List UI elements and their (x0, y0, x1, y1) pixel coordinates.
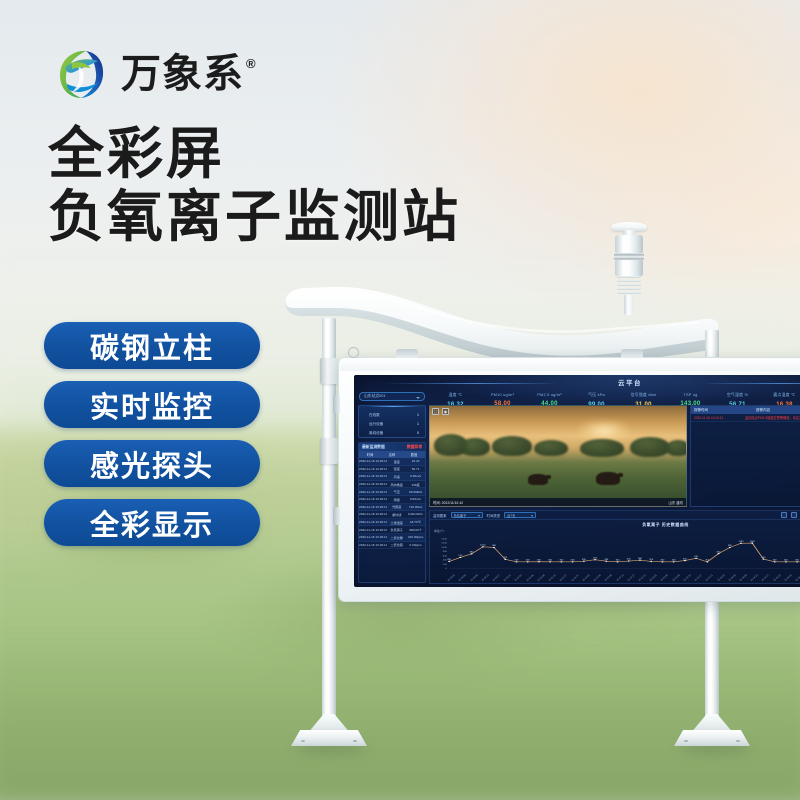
chart-x-tick-label: 11-11 13 (549, 575, 557, 582)
chart-x-tick-label: 11-14 01 (717, 575, 725, 582)
latest-data-table: 最新监测数据 数据异常 时间 名称 数值 2022-11-16 13:26:10… (358, 442, 426, 583)
cell-name: 负氧离子 (387, 527, 406, 532)
chart-x-tick-label: 11-14 13 (751, 575, 759, 582)
svg-text:380: 380 (638, 558, 643, 560)
column-header-time: 时间 (359, 452, 381, 457)
svg-text:980: 980 (492, 545, 497, 547)
svg-text:330: 330 (604, 559, 609, 561)
post-base-right (674, 716, 750, 746)
cell-time: 2022-11-16 13:26:10 (359, 512, 387, 516)
alarm-message: 监测站点PM2.5值超过预警阈值，请注意 (745, 415, 800, 420)
camera-animal-cow (528, 474, 548, 485)
chart-x-tick-label: 11-14 05 (728, 575, 736, 582)
svg-text:0: 0 (446, 568, 448, 570)
chart-x-tick-label: 11-12 01 (582, 575, 590, 582)
column-header-name: 名称 (381, 452, 403, 457)
table-row: 2022-11-16 13:26:10温度16.32 (359, 458, 425, 466)
device-status-card: 在线数 1 运行设备 1 离线设备 0 (358, 405, 426, 438)
metric-label: 温度 ℃ (432, 392, 479, 398)
alarm-column-time: 报警时间 (694, 408, 708, 413)
chart-x-tick-label: 11-13 01 (650, 575, 658, 582)
chart-x-tick-label: 11-15 01 (785, 575, 793, 582)
chart-x-tick-label: 11-13 21 (706, 575, 714, 582)
chart-x-tick-label: 11-12 21 (639, 575, 647, 582)
monitoring-station-product: 云平台 欢迎您 admin 2022年11月16日 13:26:40 山东站点0… (0, 0, 800, 800)
status-value: 1 (417, 413, 419, 418)
chevron-down-icon (478, 515, 480, 517)
status-value: 0 (417, 431, 419, 436)
cell-time: 2022-11-16 13:26:10 (359, 490, 387, 494)
cell-name: 温度 (387, 459, 406, 464)
history-chart-panel: 监测要素 负氧离子 时间类型 近7天 (429, 510, 800, 584)
alarm-panel: 报警时间 报警内容 2022-11-16 10:12:11 监测站点PM2.5值… (690, 405, 800, 507)
cell-name: 二氧化碳 (387, 535, 406, 540)
chart-x-tick-label: 11-10 09 (470, 575, 478, 582)
chart-x-tick-label: 11-11 21 (571, 575, 579, 582)
station-select-value: 山东站点001 (364, 394, 386, 399)
cell-value: 99.00kPa (406, 490, 425, 494)
svg-text:470: 470 (694, 556, 699, 558)
svg-text:300: 300 (571, 560, 576, 562)
mount-ring-left (348, 347, 359, 358)
svg-text:1180: 1180 (738, 541, 744, 543)
metric-label: TSP ug (667, 392, 714, 397)
svg-text:400: 400 (593, 558, 598, 560)
chart-x-tick-label: 11-13 13 (684, 575, 692, 582)
svg-text:300: 300 (660, 560, 665, 562)
cell-value: 18.70℃ (406, 520, 425, 524)
svg-text:600: 600 (443, 556, 448, 558)
table-alert-label: 数据异常 (407, 445, 422, 450)
svg-text:320: 320 (649, 559, 654, 561)
status-row-offline: 离线设备 0 (369, 431, 419, 436)
svg-text:1190: 1190 (750, 541, 756, 543)
cell-value: 0.00mm (406, 497, 425, 501)
cell-value: 16.32 (406, 459, 425, 463)
camera-tree (666, 440, 687, 456)
column-header-value: 数值 (403, 452, 425, 457)
chart-period-value: 近7天 (507, 513, 515, 518)
cell-name: 风向角度 (387, 482, 406, 487)
cell-name: 土壤温度 (387, 520, 406, 525)
station-select-dropdown[interactable]: 山东站点001 (359, 392, 425, 401)
monitor-top-lip (340, 359, 800, 371)
chart-x-tick-label: 11-10 13 (481, 575, 489, 582)
chart-x-tick-label: 11-15 05 (796, 575, 800, 582)
alarm-time: 2022-11-16 10:12:11 (694, 416, 723, 420)
chart-element-select[interactable]: 负氧离子 (451, 512, 483, 518)
table-title: 最新监测数据 (362, 445, 385, 450)
chart-x-tick-label: 11-10 21 (504, 575, 512, 582)
chart-toolbar: 监测要素 负氧离子 时间类型 近7天 (430, 511, 800, 520)
table-body: 2022-11-16 13:26:10温度16.322022-11-16 13:… (359, 458, 425, 582)
chart-x-tick-label: 11-12 17 (627, 575, 635, 582)
chart-x-tick-label: 11-11 05 (526, 575, 534, 582)
cell-name: 雨量 (387, 497, 406, 502)
svg-text:300: 300 (672, 560, 677, 562)
chart-x-tick-label: 11-10 01 (448, 575, 456, 582)
cell-time: 2022-11-16 13:26:10 (359, 497, 387, 501)
metric-label: PM2.5 ug/m³ (526, 392, 573, 397)
cell-time: 2022-11-16 13:26:10 (359, 474, 387, 478)
sensor-lower-body (615, 260, 643, 276)
status-value: 1 (417, 422, 419, 427)
side-latch-upper (333, 395, 340, 413)
svg-text:340: 340 (627, 559, 632, 561)
camera-tree (630, 437, 670, 457)
chart-filter-label-period: 时间类型 (487, 513, 501, 518)
camera-tree (492, 436, 532, 456)
chart-x-tick-label: 11-14 21 (773, 575, 781, 582)
status-label: 离线设备 (369, 431, 383, 436)
table-row: 2022-11-16 13:26:10气压99.00kPa (359, 488, 425, 496)
cell-name: 气压 (387, 489, 406, 494)
svg-text:300: 300 (795, 560, 800, 562)
screen-left-column: 在线数 1 运行设备 1 离线设备 0 (358, 405, 426, 583)
cell-time: 2022-11-16 13:26:10 (359, 482, 387, 486)
svg-text:1010: 1010 (480, 545, 486, 547)
svg-text:1000: 1000 (441, 547, 448, 549)
metric-label: PM10 ug/m³ (479, 392, 526, 397)
sensor-mount-stem (624, 295, 634, 315)
cell-value: 0.00ppm (406, 543, 425, 547)
cell-time: 2022-11-16 13:26:10 (359, 467, 387, 471)
table-row: 2022-11-16 13:26:10二氧化硫0.00ppm (359, 542, 425, 550)
svg-text:300: 300 (773, 560, 778, 562)
monitor-housing: 云平台 欢迎您 admin 2022年11月16日 13:26:40 山东站点0… (338, 357, 800, 602)
screen-title: 云平台 (618, 377, 642, 387)
camera-info-bar: 时间: 2022/11/16 42 山东 潍坊 (430, 498, 686, 506)
table-column-headers: 时间 名称 数值 (359, 451, 425, 458)
table-row: 2022-11-16 13:26:10雨量0.00mm (359, 496, 425, 504)
cell-time: 2022-11-16 13:26:10 (359, 535, 387, 539)
chevron-down-icon (416, 397, 420, 399)
metric-label: 信号强度 dbm (620, 392, 667, 398)
camera-tree (580, 439, 624, 457)
chart-x-tick-label: 11-14 09 (740, 575, 748, 582)
table-row: 2022-11-16 13:26:10湿度56.71 (359, 466, 425, 474)
metric-label: 气压 kPa (573, 392, 620, 398)
header-line-left (384, 383, 554, 384)
chart-x-tick-label: 11-12 09 (605, 575, 613, 582)
svg-text:800: 800 (443, 551, 448, 553)
chevron-down-icon (531, 515, 533, 517)
svg-text:1200: 1200 (441, 543, 448, 545)
chart-x-tick-label: 11-13 09 (672, 575, 680, 582)
cell-name: 风速 (387, 474, 406, 479)
chart-title: 负氧离子 历史数据曲线 (642, 522, 689, 528)
mount-tab-1 (396, 349, 418, 358)
cell-value: 0.00mW/m (406, 512, 425, 516)
chart-type-line-icon[interactable] (781, 512, 787, 518)
chart-x-tick-label: 11-12 13 (616, 575, 624, 582)
snapshot-icon[interactable]: ◉ (442, 408, 449, 415)
cell-time: 2022-11-16 13:26:10 (359, 543, 387, 547)
svg-text:1400: 1400 (441, 539, 448, 541)
chart-filter-label-element: 监测要素 (433, 513, 447, 518)
chart-x-tick-label: 11-11 01 (515, 575, 523, 582)
cell-name: 紫外线 (387, 512, 406, 517)
table-row: 2022-11-16 13:26:10光照度716.00lux (359, 504, 425, 512)
cell-value: 980.00个 (406, 527, 425, 532)
chart-svg: 0200400600800100012001400320510680101098… (433, 533, 800, 571)
svg-text:200: 200 (443, 564, 448, 566)
status-row-online: 在线数 1 (369, 413, 419, 418)
cell-time: 2022-11-16 13:26:10 (359, 459, 387, 463)
chart-x-tick-label: 11-11 09 (538, 575, 546, 582)
chart-x-tick-label: 11-14 17 (762, 575, 770, 582)
cell-name: 湿度 (387, 466, 406, 471)
chart-x-tick-label: 11-11 17 (560, 575, 568, 582)
screen-header: 云平台 欢迎您 admin 2022年11月16日 13:26:40 (354, 375, 800, 390)
cell-value: 0.30m/s (406, 474, 425, 478)
cell-time: 2022-11-16 13:26:10 (359, 505, 387, 509)
table-row: 2022-11-16 13:26:10紫外线0.00mW/m (359, 511, 425, 519)
svg-text:330: 330 (582, 559, 587, 561)
header-line-right (706, 383, 800, 384)
cell-value: 138度 (406, 482, 425, 487)
cell-time: 2022-11-16 13:26:10 (359, 520, 387, 524)
status-row-running: 运行设备 1 (369, 422, 419, 427)
chart-x-tick-label: 11-10 17 (493, 575, 501, 582)
product-banner: 万象系 ® 全彩屏 负氧离子监测站 碳钢立柱 实时监控 感光探头 全彩显示 (0, 0, 800, 800)
svg-text:300: 300 (515, 560, 520, 562)
cell-value: 410.00ppm (406, 535, 425, 539)
chart-x-tick-label: 11-13 17 (695, 575, 703, 582)
table-row: 2022-11-16 13:26:10二氧化碳410.00ppm (359, 534, 425, 542)
svg-text:300: 300 (526, 560, 531, 562)
chart-period-select[interactable]: 近7天 (504, 512, 536, 518)
sensor-upper-body (615, 235, 643, 253)
camera-animal-cow (596, 472, 620, 485)
status-label: 在线数 (369, 413, 380, 418)
fullscreen-icon[interactable]: ⛶ (432, 408, 439, 415)
status-label: 运行设备 (369, 422, 383, 427)
cell-time: 2022-11-16 13:26:10 (359, 528, 387, 532)
table-row: 2022-11-16 13:26:10风速0.30m/s (359, 473, 425, 481)
post-base-left (291, 716, 367, 746)
cell-name: 二氧化硫 (387, 542, 406, 547)
camera-timestamp: 时间: 2022/11/16 42 (433, 500, 463, 505)
chart-x-tick-label: 11-10 05 (459, 575, 467, 582)
chart-x-tick-label: 11-13 05 (661, 575, 669, 582)
chart-x-tick-label: 11-12 05 (594, 575, 602, 582)
svg-text:420: 420 (503, 557, 508, 559)
sensor-radiation-shield (617, 276, 641, 296)
mount-tab-2 (621, 349, 643, 358)
metric-label: 露点温度 ℃ (761, 392, 800, 398)
table-row: 2022-11-16 13:26:10土壤温度18.70℃ (359, 519, 425, 527)
chart-x-axis-labels: 11-10 0111-10 0511-10 0911-10 1311-10 17… (433, 571, 800, 583)
alarm-row: 2022-11-16 10:12:11 监测站点PM2.5值超过预警阈值，请注意 (691, 414, 800, 422)
table-row: 2022-11-16 13:26:10风向角度138度 (359, 481, 425, 489)
svg-text:305: 305 (537, 560, 542, 562)
ultrasonic-weather-sensor (602, 222, 656, 314)
metric-label: 空气湿度 % (714, 392, 761, 398)
cell-value: 56.71 (406, 467, 425, 471)
dashboard-screen: 云平台 欢迎您 admin 2022年11月16日 13:26:40 山东站点0… (354, 375, 800, 587)
camera-tree (534, 440, 568, 456)
chart-plot-area: 0200400600800100012001400320510680101098… (433, 533, 800, 571)
cell-value: 716.00lux (406, 505, 425, 509)
cell-name: 光照度 (387, 504, 406, 509)
alarm-header: 报警时间 报警内容 (691, 406, 800, 414)
camera-toolbar: ⛶ ◉ (432, 408, 449, 415)
svg-text:430: 430 (761, 557, 766, 559)
chart-type-bar-icon[interactable] (791, 512, 797, 518)
chart-element-value: 负氧离子 (454, 513, 467, 518)
side-latch-lower (333, 507, 340, 525)
svg-text:300: 300 (559, 560, 564, 562)
camera-location: 山东 潍坊 (668, 500, 683, 505)
svg-text:300: 300 (616, 560, 621, 562)
svg-text:300: 300 (548, 560, 553, 562)
table-row: 2022-11-16 13:26:10负氧离子980.00个 (359, 526, 425, 534)
svg-text:300: 300 (784, 560, 789, 562)
alarm-column-message: 报警内容 (756, 408, 770, 413)
camera-tree (460, 438, 490, 456)
live-camera-view[interactable]: ⛶ ◉ 时间: 2022/11/16 42 山东 潍坊 (429, 405, 687, 507)
table-header-bar: 最新监测数据 数据异常 (359, 443, 425, 451)
